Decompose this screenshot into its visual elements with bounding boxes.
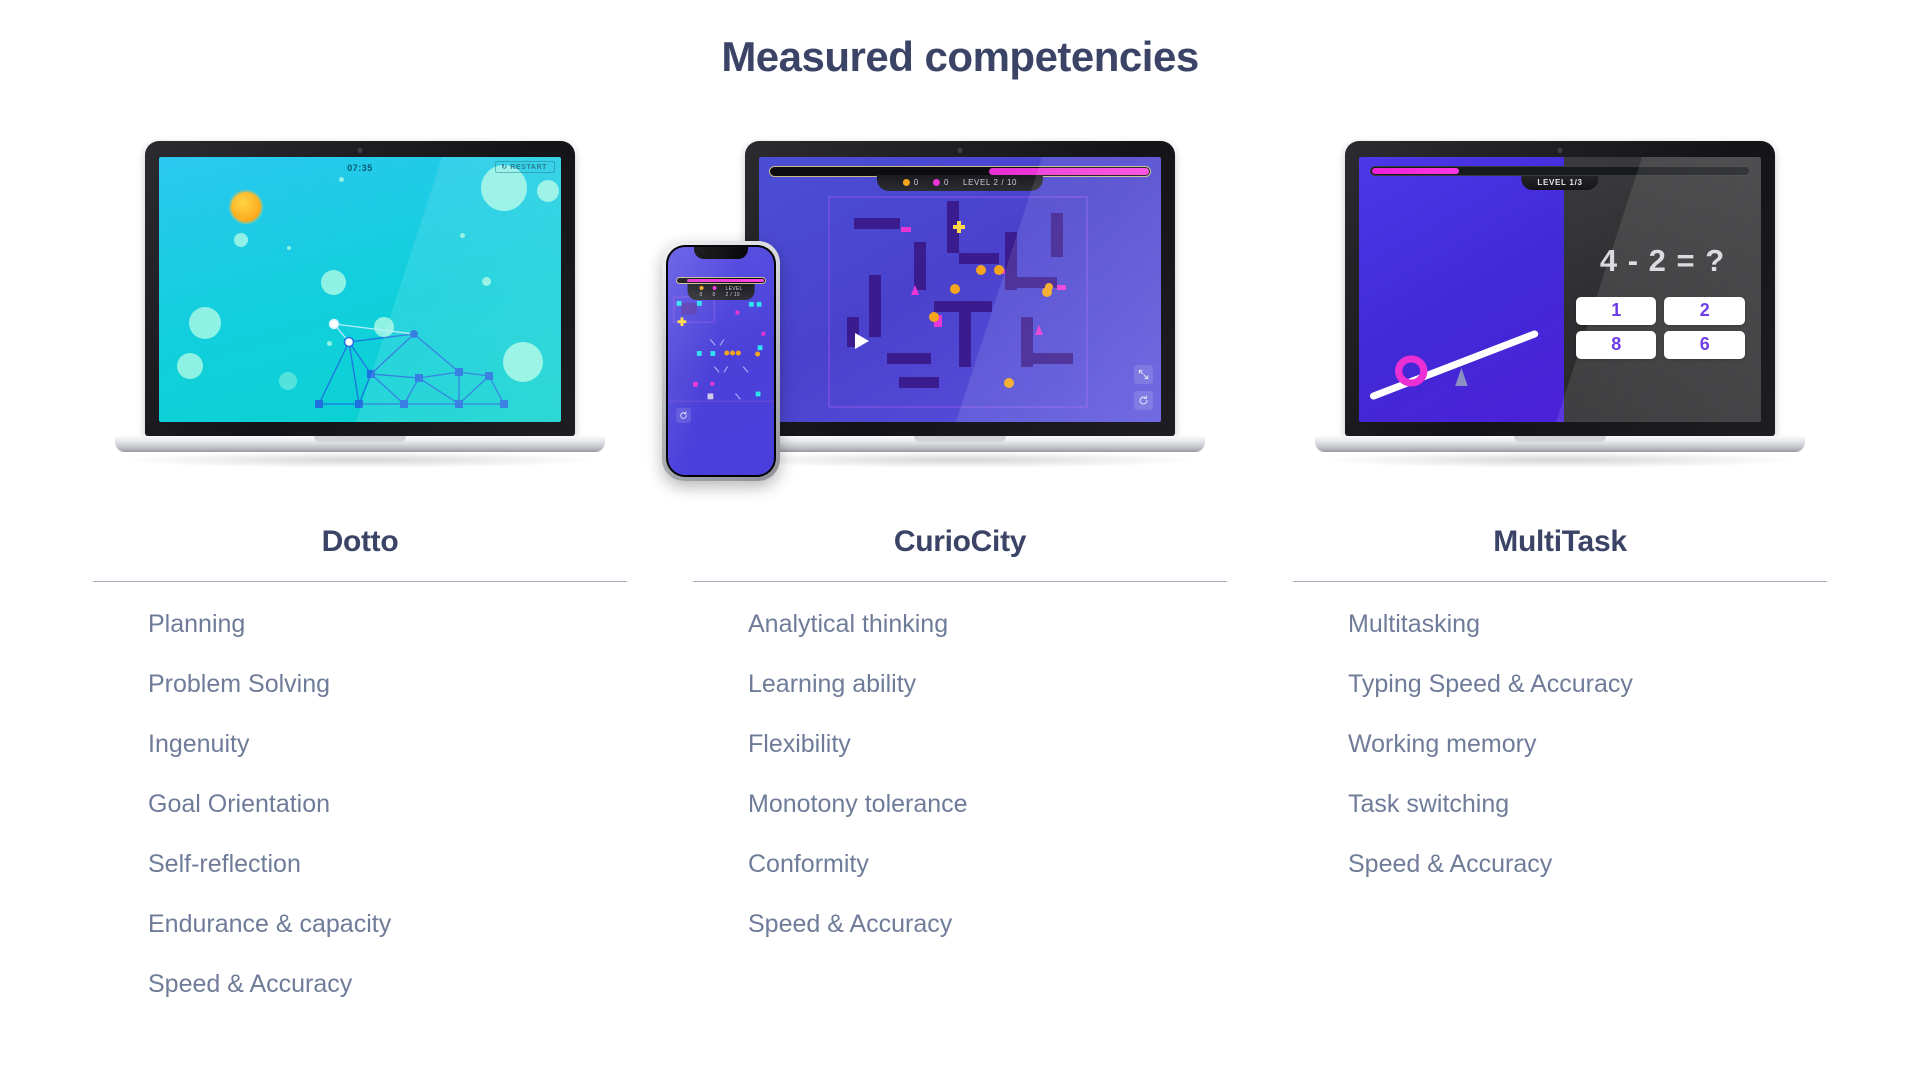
game-timer: 07:35 bbox=[347, 163, 373, 173]
list-item: Speed & Accuracy bbox=[1348, 852, 1860, 877]
fullscreen-icon bbox=[1138, 369, 1149, 380]
fullscreen-button[interactable] bbox=[1134, 365, 1153, 384]
laptop-lid: 07:35 ↻ RESTART bbox=[145, 141, 575, 436]
gem-count: 0 bbox=[944, 178, 949, 187]
phone-level-label: LEVEL 2 / 10 bbox=[726, 286, 743, 298]
list-item: Typing Speed & Accuracy bbox=[1348, 672, 1860, 697]
coin-count: 0 bbox=[914, 178, 919, 187]
answer-button[interactable]: 2 bbox=[1664, 297, 1744, 325]
bubble bbox=[321, 270, 346, 295]
phone-coin-count: 0 bbox=[700, 292, 703, 298]
list-item: Planning bbox=[148, 612, 660, 637]
list-item: Learning ability bbox=[748, 672, 1260, 697]
caption-curiocity: CurioCity bbox=[660, 525, 1260, 559]
multitask-screen: LEVEL 1/3 4 - 2 = ? 1 2 8 6 bbox=[1359, 157, 1761, 422]
sun-icon bbox=[231, 192, 261, 222]
phone-restart-button[interactable] bbox=[676, 408, 691, 423]
webcam-icon bbox=[358, 148, 363, 153]
competency-list-curiocity: Analytical thinking Learning ability Fle… bbox=[748, 612, 1260, 937]
laptop-dotto: 07:35 ↻ RESTART bbox=[115, 141, 605, 468]
gem-icon bbox=[713, 286, 717, 290]
bubble bbox=[482, 277, 491, 286]
level-label: LEVEL 2 / 10 bbox=[963, 178, 1017, 187]
progress-fill bbox=[1372, 168, 1459, 174]
curiocity-hud: 0 0 LEVEL 2 / 10 bbox=[877, 175, 1043, 191]
list-item: Speed & Accuracy bbox=[748, 912, 1260, 937]
progress-bar bbox=[1370, 166, 1750, 176]
coin-counter: 0 bbox=[903, 178, 919, 187]
equation-display: 4 - 2 = ? bbox=[1572, 243, 1753, 279]
progress-fill bbox=[989, 168, 1149, 175]
caption-multitask: MultiTask bbox=[1260, 525, 1860, 559]
bubble bbox=[234, 233, 248, 247]
divider bbox=[1293, 581, 1827, 582]
coin-icon bbox=[700, 286, 704, 290]
laptop-lid: 0 0 LEVEL 2 / 10 bbox=[745, 141, 1175, 436]
restart-button[interactable] bbox=[1134, 391, 1153, 410]
list-item: Flexibility bbox=[748, 732, 1260, 757]
phone-screen: 0 0 LEVEL 2 / 10 bbox=[668, 247, 774, 475]
laptop-shadow bbox=[725, 452, 1195, 468]
webcam-icon bbox=[958, 148, 963, 153]
device-stage-dotto: 07:35 ↻ RESTART bbox=[60, 141, 660, 511]
curiocity-screen: 0 0 LEVEL 2 / 10 bbox=[759, 157, 1161, 422]
balance-beam-widget bbox=[1359, 292, 1568, 412]
answer-button[interactable]: 1 bbox=[1576, 297, 1656, 325]
bubble bbox=[287, 246, 291, 250]
caption-dotto: Dotto bbox=[60, 525, 660, 559]
level-label: LEVEL 1/3 bbox=[1521, 176, 1598, 190]
laptop-lid: LEVEL 1/3 4 - 2 = ? 1 2 8 6 bbox=[1345, 141, 1775, 436]
laptop-base bbox=[1315, 436, 1805, 452]
gem-counter: 0 bbox=[933, 178, 949, 187]
curiocity-tools bbox=[1134, 365, 1153, 410]
phone-curiocity: 0 0 LEVEL 2 / 10 bbox=[662, 241, 780, 481]
bubble bbox=[339, 177, 344, 182]
device-stage-multitask: LEVEL 1/3 4 - 2 = ? 1 2 8 6 bbox=[1260, 141, 1860, 511]
restart-icon bbox=[679, 411, 688, 420]
competency-list-dotto: Planning Problem Solving Ingenuity Goal … bbox=[148, 612, 660, 997]
laptop-base bbox=[115, 436, 605, 452]
list-item: Endurance & capacity bbox=[148, 912, 660, 937]
fulcrum-icon bbox=[1455, 368, 1468, 386]
answer-buttons: 1 2 8 6 bbox=[1576, 297, 1745, 359]
list-item: Analytical thinking bbox=[748, 612, 1260, 637]
restart-label: RESTART bbox=[510, 164, 547, 171]
list-item: Speed & Accuracy bbox=[148, 972, 660, 997]
column-dotto: 07:35 ↻ RESTART bbox=[60, 141, 660, 1032]
answer-button[interactable]: 8 bbox=[1576, 331, 1656, 359]
list-item: Self-reflection bbox=[148, 852, 660, 877]
list-item: Multitasking bbox=[1348, 612, 1860, 637]
divider bbox=[93, 581, 627, 582]
list-item: Task switching bbox=[1348, 792, 1860, 817]
phone-notch bbox=[694, 245, 748, 259]
laptop-shadow bbox=[1325, 452, 1795, 468]
laptop-curiocity: 0 0 LEVEL 2 / 10 bbox=[715, 141, 1205, 468]
page-title: Measured competencies bbox=[0, 0, 1920, 81]
phone-progress-bar bbox=[676, 277, 766, 284]
phone-gem-count: 0 bbox=[713, 292, 716, 298]
gem-icon bbox=[933, 179, 940, 186]
restart-button[interactable]: ↻ RESTART bbox=[495, 161, 555, 173]
restart-icon bbox=[1138, 395, 1149, 406]
webcam-icon bbox=[1558, 148, 1563, 153]
list-item: Working memory bbox=[1348, 732, 1860, 757]
laptop-base bbox=[715, 436, 1205, 452]
dot-network-graph bbox=[159, 312, 561, 422]
laptop-multitask: LEVEL 1/3 4 - 2 = ? 1 2 8 6 bbox=[1315, 141, 1805, 468]
phone-coin-counter: 0 bbox=[700, 286, 706, 298]
list-item: Ingenuity bbox=[148, 732, 660, 757]
coin-icon bbox=[903, 179, 910, 186]
phone-gem-counter: 0 bbox=[713, 286, 719, 298]
competency-list-multitask: Multitasking Typing Speed & Accuracy Wor… bbox=[1348, 612, 1860, 877]
list-item: Goal Orientation bbox=[148, 792, 660, 817]
list-item: Conformity bbox=[748, 852, 1260, 877]
restart-icon: ↻ bbox=[501, 164, 507, 171]
phone-body: 0 0 LEVEL 2 / 10 bbox=[666, 245, 776, 477]
device-stage-curiocity: 0 0 LEVEL 2 / 10 bbox=[660, 141, 1260, 511]
dotto-hud: 07:35 ↻ RESTART bbox=[159, 161, 561, 177]
phone-hud: 0 0 LEVEL 2 / 10 bbox=[688, 284, 755, 300]
divider bbox=[693, 581, 1227, 582]
phone-progress-fill bbox=[687, 279, 764, 282]
math-panel bbox=[1564, 157, 1761, 422]
competency-columns: 07:35 ↻ RESTART bbox=[0, 141, 1920, 1032]
bubble bbox=[537, 180, 559, 202]
column-multitask: LEVEL 1/3 4 - 2 = ? 1 2 8 6 bbox=[1260, 141, 1860, 912]
column-curiocity: 0 0 LEVEL 2 / 10 bbox=[660, 141, 1260, 972]
list-item: Problem Solving bbox=[148, 672, 660, 697]
laptop-shadow bbox=[125, 452, 595, 468]
answer-button[interactable]: 6 bbox=[1664, 331, 1744, 359]
competencies-page: Measured competencies bbox=[0, 0, 1920, 1080]
maze-board bbox=[759, 157, 1161, 422]
list-item: Monotony tolerance bbox=[748, 792, 1260, 817]
bubble bbox=[460, 233, 465, 238]
dotto-screen: 07:35 ↻ RESTART bbox=[159, 157, 561, 422]
